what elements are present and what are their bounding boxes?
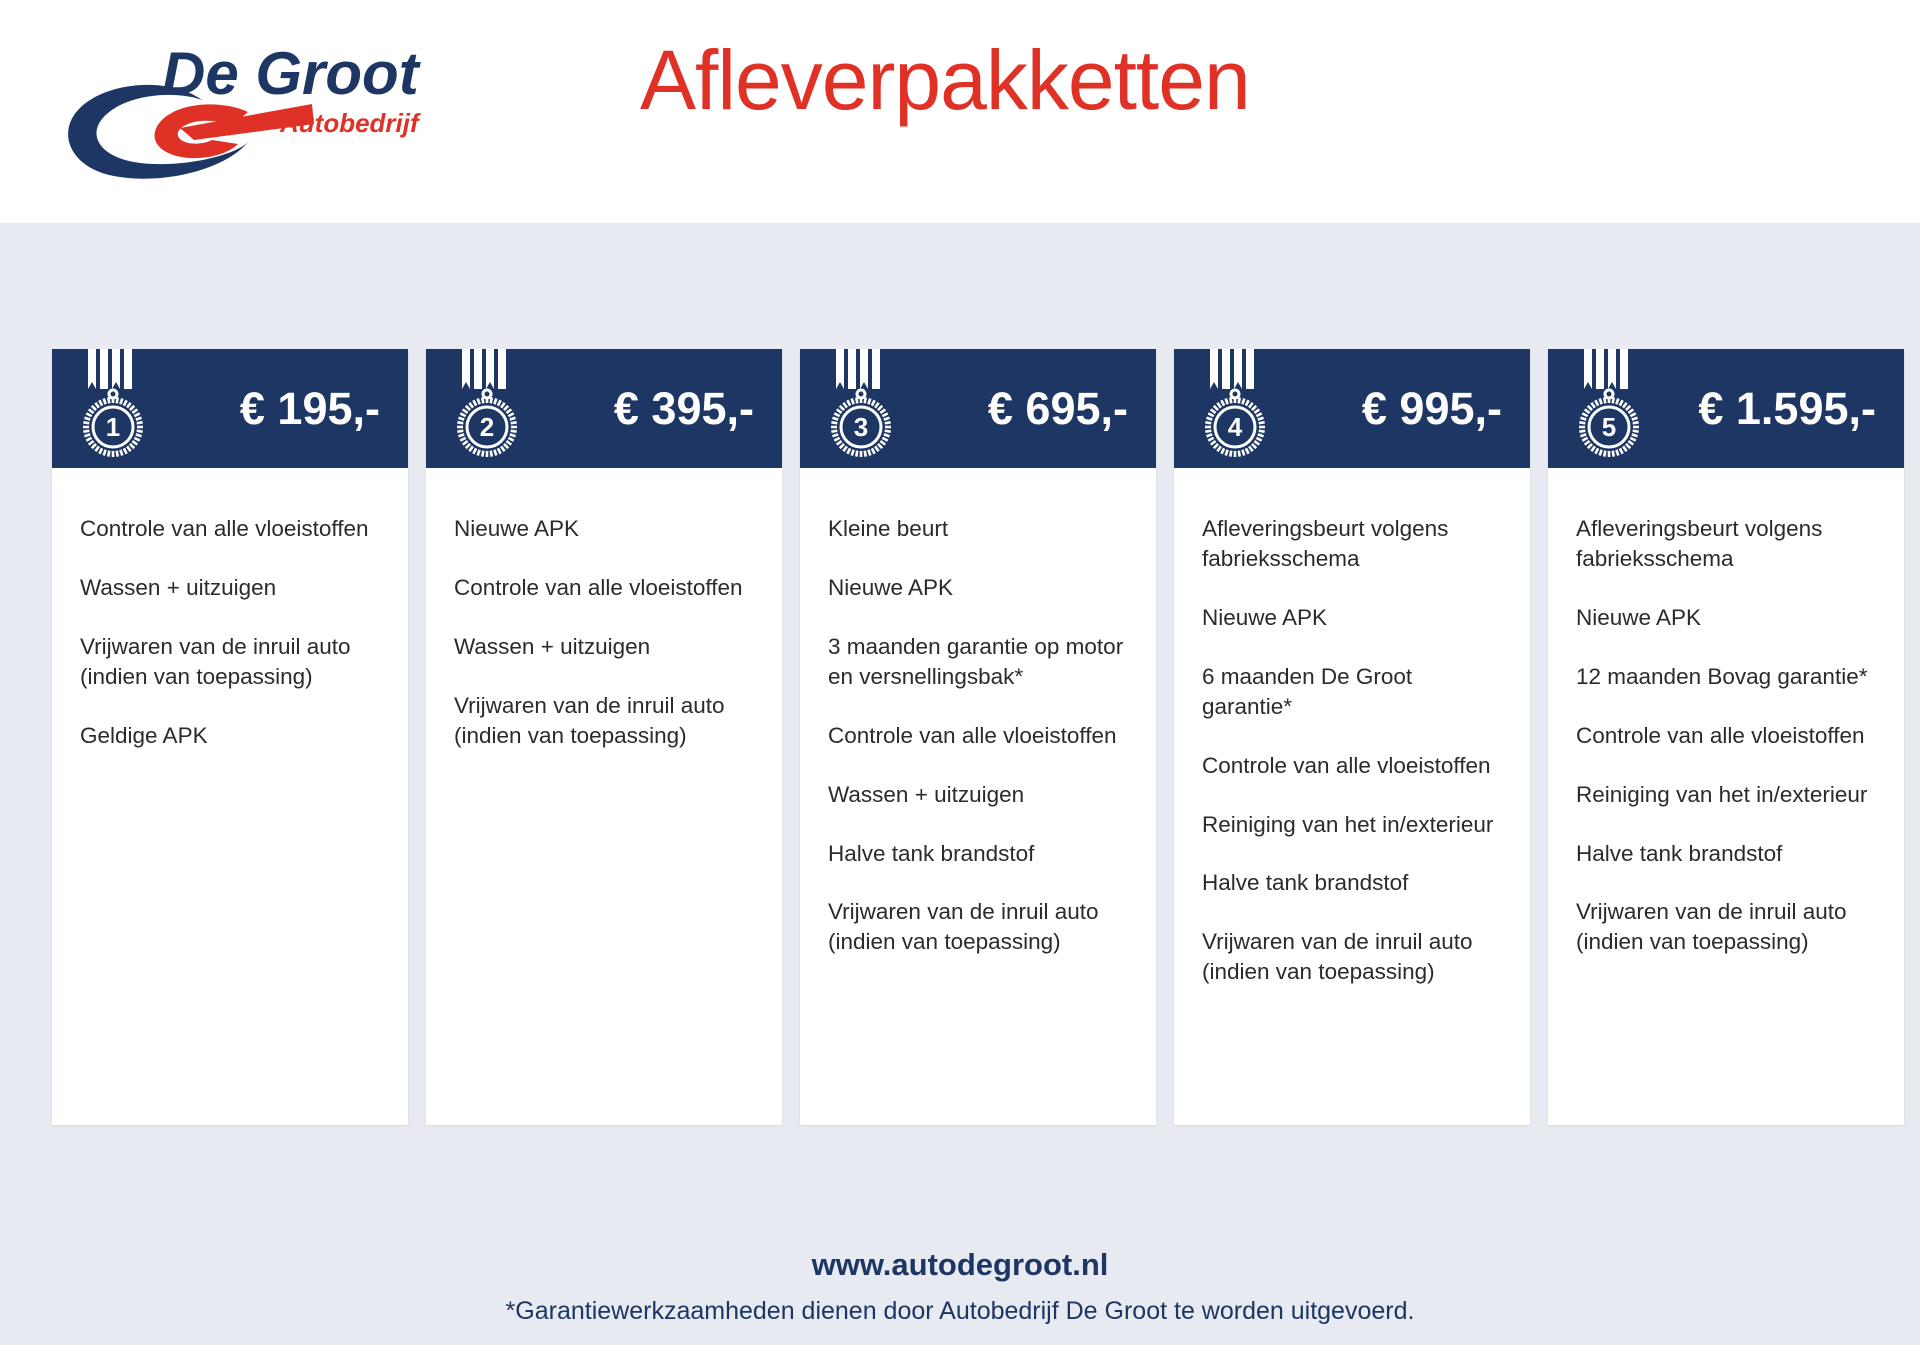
package-feature-item: Wassen + uitzuigen	[80, 573, 380, 603]
package-feature-item: 12 maanden Bovag garantie*	[1576, 662, 1876, 692]
package-feature-item: Nieuwe APK	[1202, 603, 1502, 633]
package-card-grid: 1€ 195,-Controle van alle vloeistoffenWa…	[52, 349, 1908, 1125]
package-card[interactable]: 3€ 695,-Kleine beurtNieuwe APK3 maanden …	[800, 349, 1156, 1125]
package-feature-item: Wassen + uitzuigen	[828, 780, 1128, 810]
package-feature-list: Nieuwe APKControle van alle vloeistoffen…	[426, 468, 782, 1125]
package-feature-item: 3 maanden garantie op motor en versnelli…	[828, 632, 1128, 692]
medal-badge: 2	[448, 349, 534, 465]
medal-badge: 1	[74, 349, 160, 465]
package-feature-item: Halve tank brandstof	[828, 839, 1128, 869]
page-header: De Groot Autobedrijf Afleverpakketten	[0, 0, 1920, 223]
logo-subtitle-text: Autobedrijf	[279, 108, 421, 138]
medal-badge: 5	[1570, 349, 1656, 465]
medal-rank-number: 3	[854, 412, 868, 442]
package-feature-item: Controle van alle vloeistoffen	[1202, 751, 1502, 781]
package-feature-list: Kleine beurtNieuwe APK3 maanden garantie…	[800, 468, 1156, 1125]
package-feature-item: Controle van alle vloeistoffen	[454, 573, 754, 603]
medal-badge: 3	[822, 349, 908, 465]
warranty-disclaimer: *Garantiewerkzaamheden dienen door Autob…	[0, 1297, 1920, 1326]
package-feature-list: Afleveringsbeurt volgens fabrieksschemaN…	[1174, 468, 1530, 1125]
package-card-header: 2€ 395,-	[426, 349, 782, 468]
package-card[interactable]: 4€ 995,-Afleveringsbeurt volgens fabriek…	[1174, 349, 1530, 1125]
package-feature-item: Vrijwaren van de inruil auto (indien van…	[1576, 897, 1876, 957]
package-feature-item: Geldige APK	[80, 721, 380, 751]
package-feature-list: Afleveringsbeurt volgens fabrieksschemaN…	[1548, 468, 1904, 1125]
medal-badge: 4	[1196, 349, 1282, 465]
company-logo: De Groot Autobedrijf	[52, 28, 442, 188]
package-card[interactable]: 1€ 195,-Controle van alle vloeistoffenWa…	[52, 349, 408, 1125]
package-feature-item: Vrijwaren van de inruil auto (indien van…	[80, 632, 380, 692]
package-price: € 695,-	[988, 386, 1128, 431]
package-price: € 395,-	[614, 386, 754, 431]
package-card-header: 3€ 695,-	[800, 349, 1156, 468]
package-card-header: 5€ 1.595,-	[1548, 349, 1904, 468]
package-feature-item: Vrijwaren van de inruil auto (indien van…	[828, 897, 1128, 957]
package-feature-item: 6 maanden De Groot garantie*	[1202, 662, 1502, 722]
package-card[interactable]: 5€ 1.595,-Afleveringsbeurt volgens fabri…	[1548, 349, 1904, 1125]
package-feature-item: Controle van alle vloeistoffen	[1576, 721, 1876, 751]
package-feature-item: Reiniging van het in/exterieur	[1576, 780, 1876, 810]
package-feature-item: Vrijwaren van de inruil auto (indien van…	[454, 691, 754, 751]
package-feature-item: Afleveringsbeurt volgens fabrieksschema	[1202, 514, 1502, 574]
package-feature-item: Halve tank brandstof	[1202, 868, 1502, 898]
medal-icon: 4	[1196, 349, 1282, 465]
package-feature-item: Halve tank brandstof	[1576, 839, 1876, 869]
medal-rank-number: 5	[1602, 412, 1616, 442]
package-price: € 195,-	[240, 386, 380, 431]
package-price: € 995,-	[1362, 386, 1502, 431]
page-title: Afleverpakketten	[640, 33, 1540, 127]
package-card[interactable]: 2€ 395,-Nieuwe APKControle van alle vloe…	[426, 349, 782, 1125]
package-feature-item: Nieuwe APK	[454, 514, 754, 544]
package-feature-item: Controle van alle vloeistoffen	[828, 721, 1128, 751]
website-url[interactable]: www.autodegroot.nl	[0, 1247, 1920, 1283]
package-feature-item: Reiniging van het in/exterieur	[1202, 810, 1502, 840]
page-body: 1€ 195,-Controle van alle vloeistoffenWa…	[0, 223, 1920, 1345]
medal-icon: 2	[448, 349, 534, 465]
package-price: € 1.595,-	[1698, 386, 1876, 431]
medal-icon: 5	[1570, 349, 1656, 465]
package-feature-item: Wassen + uitzuigen	[454, 632, 754, 662]
package-card-header: 4€ 995,-	[1174, 349, 1530, 468]
page-footer: www.autodegroot.nl *Garantiewerkzaamhede…	[0, 1247, 1920, 1326]
poster-root: De Groot Autobedrijf Afleverpakketten 1€…	[0, 0, 1920, 1345]
package-card-header: 1€ 195,-	[52, 349, 408, 468]
de-groot-logo-icon: De Groot Autobedrijf	[52, 28, 442, 188]
medal-rank-number: 1	[106, 412, 120, 442]
medal-rank-number: 4	[1228, 412, 1243, 442]
package-feature-item: Vrijwaren van de inruil auto (indien van…	[1202, 927, 1502, 987]
medal-rank-number: 2	[480, 412, 494, 442]
logo-brand-text: De Groot	[162, 40, 422, 107]
package-feature-item: Kleine beurt	[828, 514, 1128, 544]
package-feature-item: Afleveringsbeurt volgens fabrieksschema	[1576, 514, 1876, 574]
medal-icon: 1	[74, 349, 160, 465]
package-feature-item: Nieuwe APK	[1576, 603, 1876, 633]
package-feature-item: Controle van alle vloeistoffen	[80, 514, 380, 544]
package-feature-item: Nieuwe APK	[828, 573, 1128, 603]
package-feature-list: Controle van alle vloeistoffenWassen + u…	[52, 468, 408, 1125]
medal-icon: 3	[822, 349, 908, 465]
